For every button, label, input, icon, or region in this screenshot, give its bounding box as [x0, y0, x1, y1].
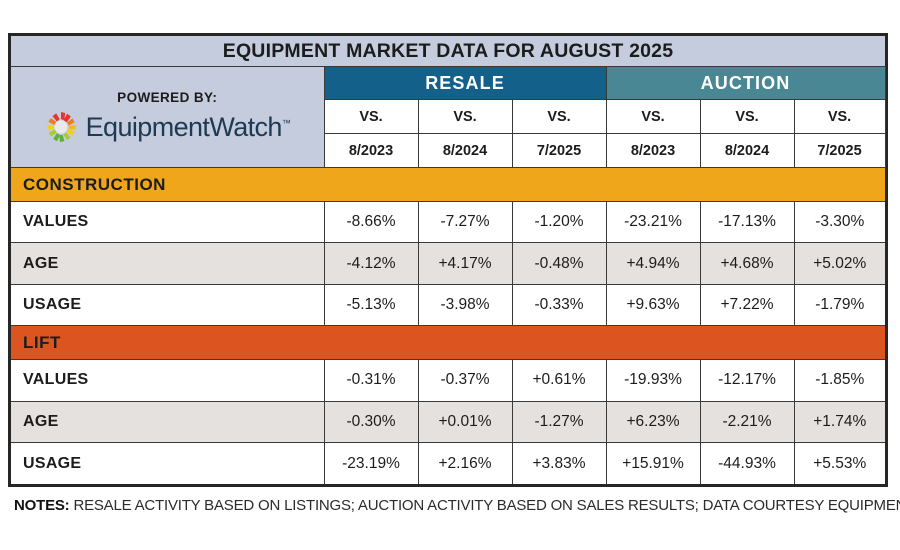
cell-construction-age-resale-2025: -0.48% [512, 243, 606, 284]
date-label-5: 8/2024 [700, 134, 794, 168]
table-row: VALUES -0.31% -0.37% +0.61% -19.93% -12.… [11, 360, 885, 401]
cell-construction-values-auction-2023: -23.21% [606, 202, 700, 243]
cell-lift-usage-auction-2025: +5.53% [794, 443, 885, 484]
cell-construction-values-auction-2024: -17.13% [700, 202, 794, 243]
page-title: EQUIPMENT MARKET DATA FOR AUGUST 2025 [11, 36, 885, 67]
cell-construction-usage-resale-2025: -0.33% [512, 284, 606, 325]
row-label-lift-values: VALUES [11, 360, 324, 401]
equipmentwatch-logo: EquipmentWatch™ [11, 110, 324, 144]
title-row: EQUIPMENT MARKET DATA FOR AUGUST 2025 [11, 36, 885, 67]
notes-text: RESALE ACTIVITY BASED ON LISTINGS; AUCTI… [73, 497, 900, 514]
market-data-infographic: EQUIPMENT MARKET DATA FOR AUGUST 2025 PO… [0, 0, 900, 550]
section-title-construction: CONSTRUCTION [11, 168, 885, 202]
date-label-3: 7/2025 [512, 134, 606, 168]
cell-construction-age-auction-2023: +4.94% [606, 243, 700, 284]
cell-construction-values-resale-2024: -7.27% [418, 202, 512, 243]
vs-label-5: VS. [700, 100, 794, 134]
cell-construction-age-auction-2024: +4.68% [700, 243, 794, 284]
cell-lift-values-auction-2025: -1.85% [794, 360, 885, 401]
cell-construction-values-auction-2025: -3.30% [794, 202, 885, 243]
cell-lift-usage-resale-2024: +2.16% [418, 443, 512, 484]
cell-construction-values-resale-2023: -8.66% [324, 202, 418, 243]
cell-construction-usage-auction-2025: -1.79% [794, 284, 885, 325]
powered-by-label: POWERED BY: [11, 90, 324, 105]
cell-construction-usage-auction-2023: +9.63% [606, 284, 700, 325]
cell-lift-age-auction-2025: +1.74% [794, 401, 885, 442]
vs-label-1: VS. [324, 100, 418, 134]
cell-lift-age-resale-2023: -0.30% [324, 401, 418, 442]
cell-construction-usage-resale-2024: -3.98% [418, 284, 512, 325]
cell-construction-usage-resale-2023: -5.13% [324, 284, 418, 325]
cell-lift-age-resale-2025: -1.27% [512, 401, 606, 442]
table-row: AGE -0.30% +0.01% -1.27% +6.23% -2.21% +… [11, 401, 885, 442]
cell-lift-age-auction-2024: -2.21% [700, 401, 794, 442]
cell-lift-values-resale-2023: -0.31% [324, 360, 418, 401]
cell-lift-usage-auction-2023: +15.91% [606, 443, 700, 484]
brand-and-group-row: POWERED BY: [11, 67, 885, 100]
cell-lift-values-auction-2024: -12.17% [700, 360, 794, 401]
cell-lift-usage-resale-2025: +3.83% [512, 443, 606, 484]
notes-label: NOTES: [14, 497, 69, 514]
row-label-construction-values: VALUES [11, 202, 324, 243]
table-row: USAGE -5.13% -3.98% -0.33% +9.63% +7.22%… [11, 284, 885, 325]
trademark-symbol: ™ [282, 118, 291, 128]
date-label-1: 8/2023 [324, 134, 418, 168]
row-label-lift-age: AGE [11, 401, 324, 442]
date-label-4: 8/2023 [606, 134, 700, 168]
row-label-construction-age: AGE [11, 243, 324, 284]
cell-lift-values-resale-2024: -0.37% [418, 360, 512, 401]
row-label-construction-usage: USAGE [11, 284, 324, 325]
cell-lift-age-resale-2024: +0.01% [418, 401, 512, 442]
cell-construction-age-resale-2024: +4.17% [418, 243, 512, 284]
group-header-resale: RESALE [324, 67, 606, 100]
table-row: USAGE -23.19% +2.16% +3.83% +15.91% -44.… [11, 443, 885, 484]
vs-label-3: VS. [512, 100, 606, 134]
section-title-lift: LIFT [11, 326, 885, 360]
cell-construction-age-auction-2025: +5.02% [794, 243, 885, 284]
cell-construction-usage-auction-2024: +7.22% [700, 284, 794, 325]
brand-cell: POWERED BY: [11, 67, 324, 168]
group-header-auction: AUCTION [606, 67, 885, 100]
section-header-row-construction: CONSTRUCTION [11, 168, 885, 202]
row-label-lift-usage: USAGE [11, 443, 324, 484]
vs-label-6: VS. [794, 100, 885, 134]
table-row: VALUES -8.66% -7.27% -1.20% -23.21% -17.… [11, 202, 885, 243]
cell-lift-values-auction-2023: -19.93% [606, 360, 700, 401]
cell-lift-usage-resale-2023: -23.19% [324, 443, 418, 484]
vs-label-4: VS. [606, 100, 700, 134]
cell-lift-values-resale-2025: +0.61% [512, 360, 606, 401]
cell-lift-age-auction-2023: +6.23% [606, 401, 700, 442]
cell-construction-age-resale-2023: -4.12% [324, 243, 418, 284]
date-label-6: 7/2025 [794, 134, 885, 168]
logo-wordmark-text: EquipmentWatch [86, 112, 282, 142]
cell-construction-values-resale-2025: -1.20% [512, 202, 606, 243]
vs-label-2: VS. [418, 100, 512, 134]
logo-wordmark: EquipmentWatch™ [86, 114, 291, 141]
cell-lift-usage-auction-2024: -44.93% [700, 443, 794, 484]
date-label-2: 8/2024 [418, 134, 512, 168]
gear-icon [44, 110, 78, 144]
market-data-table: EQUIPMENT MARKET DATA FOR AUGUST 2025 PO… [11, 36, 886, 484]
section-header-row-lift: LIFT [11, 326, 885, 360]
footer-notes: NOTES: RESALE ACTIVITY BASED ON LISTINGS… [14, 497, 894, 514]
market-data-table-frame: EQUIPMENT MARKET DATA FOR AUGUST 2025 PO… [8, 33, 888, 487]
table-row: AGE -4.12% +4.17% -0.48% +4.94% +4.68% +… [11, 243, 885, 284]
